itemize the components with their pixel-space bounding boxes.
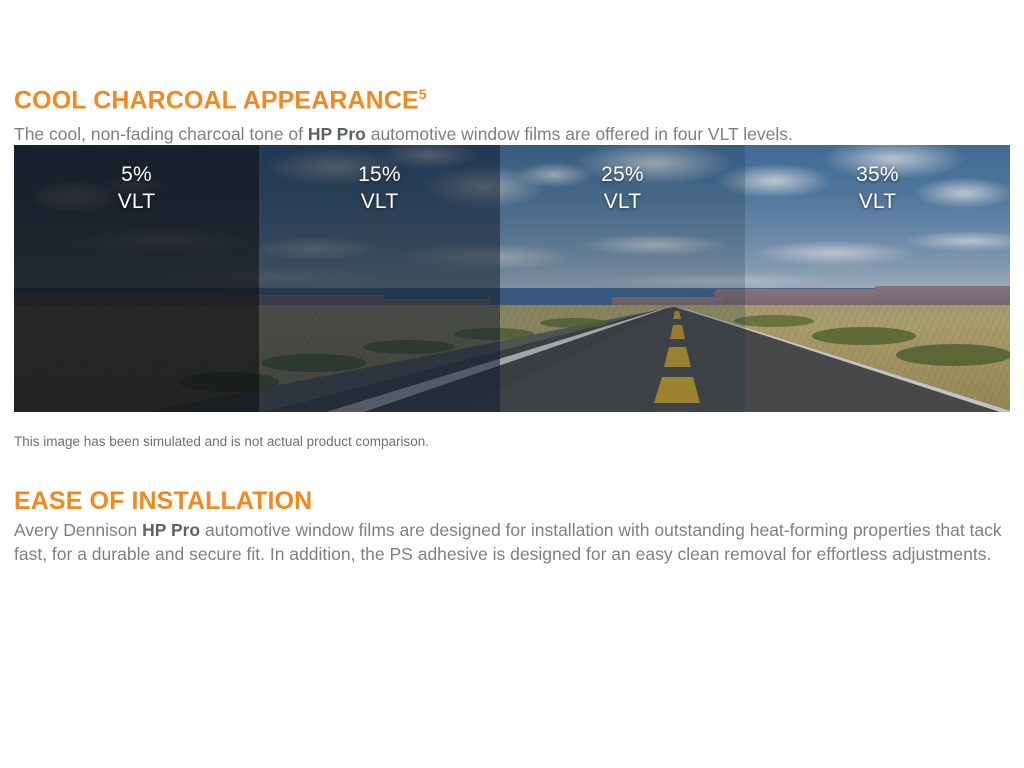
body-installation-brand: HP Pro — [142, 520, 200, 540]
section-heading-appearance-superscript: 5 — [419, 86, 427, 102]
tint-label-5: 5% VLT — [14, 161, 259, 215]
tint-panel-15[interactable]: 15% VLT — [259, 145, 500, 412]
tint-label-35: 35% VLT — [745, 161, 1010, 215]
body-installation-part1: Avery Dennison — [14, 520, 142, 540]
image-disclaimer-caption: This image has been simulated and is not… — [14, 433, 429, 451]
tint-panel-25[interactable]: 25% VLT — [500, 145, 745, 412]
tint-percent-25: 25% — [601, 163, 644, 186]
tint-percent-15: 15% — [358, 163, 401, 186]
subtitle-appearance-part2: automotive window films are offered in f… — [366, 124, 793, 144]
tint-unit-5: VLT — [14, 188, 259, 215]
tint-unit-35: VLT — [745, 188, 1010, 215]
tint-unit-25: VLT — [500, 188, 745, 215]
tint-label-25: 25% VLT — [500, 161, 745, 215]
tint-unit-15: VLT — [259, 188, 500, 215]
tint-panels: 5% VLT 15% VLT 25% VLT 35% VLT — [14, 145, 1010, 412]
tint-percent-5: 5% — [121, 163, 152, 186]
page-root: COOL CHARCOAL APPEARANCE5 The cool, non-… — [0, 0, 1024, 768]
body-installation: Avery Dennison HP Pro automotive window … — [14, 518, 1016, 566]
subtitle-appearance-part1: The cool, non-fading charcoal tone of — [14, 124, 308, 144]
tint-percent-35: 35% — [856, 163, 899, 186]
section-heading-appearance-text: COOL CHARCOAL APPEARANCE — [14, 86, 419, 114]
tint-panel-5[interactable]: 5% VLT — [14, 145, 259, 412]
section-heading-installation: EASE OF INSTALLATION — [14, 489, 312, 514]
subtitle-appearance: The cool, non-fading charcoal tone of HP… — [14, 122, 1014, 146]
tint-label-15: 15% VLT — [259, 161, 500, 215]
subtitle-appearance-brand: HP Pro — [308, 124, 366, 144]
tint-panel-35[interactable]: 35% VLT — [745, 145, 1010, 412]
vlt-comparison-image: 5% VLT 15% VLT 25% VLT 35% VLT — [14, 145, 1010, 412]
section-heading-appearance: COOL CHARCOAL APPEARANCE5 — [14, 87, 427, 113]
